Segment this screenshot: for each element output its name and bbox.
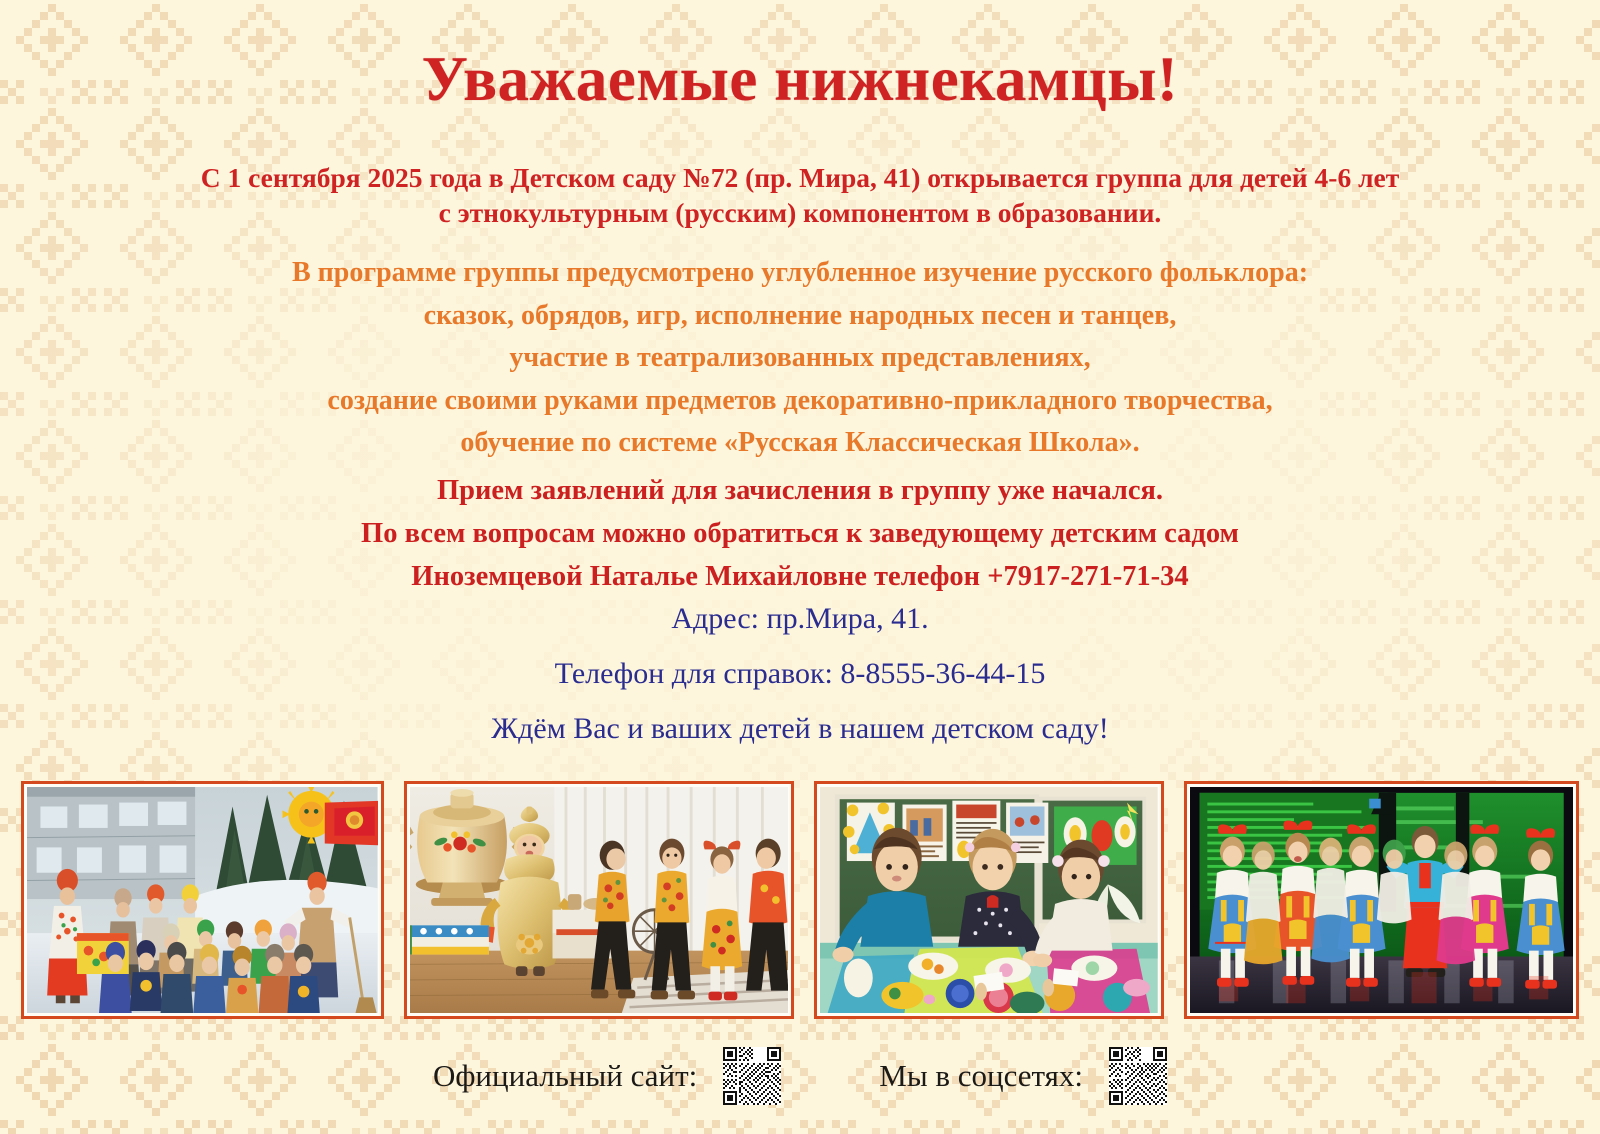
photo-frame-2 xyxy=(404,781,794,1019)
poster-headline: Уважаемые нижнекамцы! xyxy=(0,48,1600,111)
intro-line-1: С 1 сентября 2025 года в Детском саду №7… xyxy=(201,162,1399,193)
address-and-phone-block: Адрес: пр.Мира, 41. Телефон для справок:… xyxy=(40,604,1560,744)
contact-paragraph: Прием заявлений для зачисления в группу … xyxy=(40,470,1560,598)
intro-line-2: с этнокультурным (русским) компонентом в… xyxy=(40,195,1560,230)
photo-frame-4 xyxy=(1184,781,1579,1019)
stage-dance-photo xyxy=(1190,787,1573,1013)
official-site-label: Официальный сайт: xyxy=(433,1058,697,1094)
poster-root: Уважаемые нижнекамцы! С 1 сентября 2025 … xyxy=(0,0,1600,1134)
welcome-line: Ждём Вас и ваших детей в нашем детском с… xyxy=(40,714,1560,744)
program-line-3: участие в театрализованных представления… xyxy=(40,337,1560,380)
social-networks-label: Мы в соцсетях: xyxy=(879,1058,1083,1094)
address-line: Адрес: пр.Мира, 41. xyxy=(40,604,1560,634)
official-site-qr-code[interactable] xyxy=(723,1047,781,1105)
photo-frame-1 xyxy=(21,781,384,1019)
contact-line-1: Прием заявлений для зачисления в группу … xyxy=(40,470,1560,513)
maslenitsa-group-photo xyxy=(27,787,378,1013)
photo-frame-3 xyxy=(814,781,1164,1019)
intro-paragraph: С 1 сентября 2025 года в Детском саду №7… xyxy=(40,160,1560,230)
contact-line-3-manager-phone: Иноземцевой Наталье Михайловне телефон +… xyxy=(40,556,1560,599)
program-line-4: создание своими руками предметов декорат… xyxy=(40,380,1560,423)
footer-links-row: Официальный сайт: xyxy=(0,1036,1600,1116)
photo-gallery xyxy=(21,781,1579,1019)
info-phone-line: Телефон для справок: 8-8555-36-44-15 xyxy=(40,659,1560,689)
samovar-performance-photo xyxy=(410,787,788,1013)
easter-crafts-photo xyxy=(820,787,1158,1013)
contact-line-2: По всем вопросам можно обратиться к заве… xyxy=(40,513,1560,556)
social-networks-qr-code[interactable] xyxy=(1109,1047,1167,1105)
program-line-5: обучение по системе «Русская Классическа… xyxy=(40,422,1560,465)
program-description: В программе группы предусмотрено углубле… xyxy=(40,252,1560,465)
program-line-1: В программе группы предусмотрено углубле… xyxy=(40,252,1560,295)
program-line-2: сказок, обрядов, игр, исполнение народны… xyxy=(40,295,1560,338)
